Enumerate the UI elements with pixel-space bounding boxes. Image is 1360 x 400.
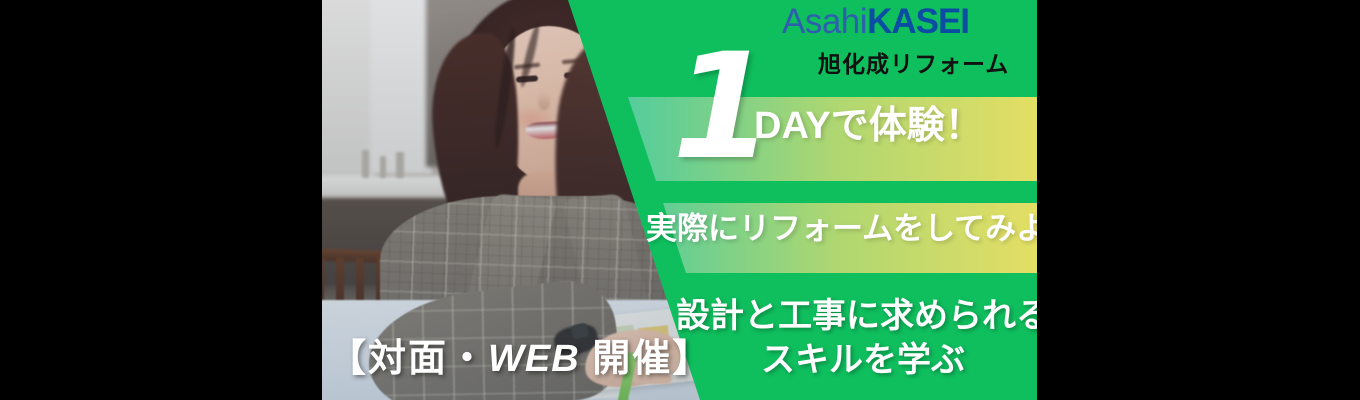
logo-subtitle: 旭化成リフォーム <box>818 52 1009 77</box>
counter-bottle <box>362 150 369 178</box>
nose <box>538 92 550 110</box>
letterbox-bar-left <box>0 0 322 400</box>
logo-text-asahi: Asahi <box>782 2 867 41</box>
caption-web: WEB <box>488 338 580 380</box>
upper-cabinet-middle <box>370 0 432 174</box>
promo-banner[interactable]: AsahiKASEI 旭化成リフォーム 1 DAYで体験！ 実際にリフォームをし… <box>0 0 1360 400</box>
headline-line-3a: 設計と工事に求められる <box>676 297 1050 335</box>
asahi-kasei-logo[interactable]: AsahiKASEI <box>782 4 969 39</box>
letterbox-bar-right <box>1037 0 1360 400</box>
caption-prefix: 【対面・ <box>328 338 488 380</box>
logo-text-kasei: KASEI <box>867 2 969 41</box>
caption-suffix: 開催】 <box>592 338 712 380</box>
headline-day-label: DAYで体験！ <box>754 107 983 145</box>
headline-line-2: 実際にリフォームをしてみよう <box>646 213 1078 244</box>
headline-line-3b: スキルを学ぶ <box>676 339 1050 383</box>
counter-bottle <box>380 156 386 178</box>
counter-bottle <box>396 152 404 178</box>
headline-line-3: 設計と工事に求められる スキルを学ぶ <box>676 295 1050 382</box>
format-caption: 【対面・WEB 開催】 <box>328 340 712 378</box>
